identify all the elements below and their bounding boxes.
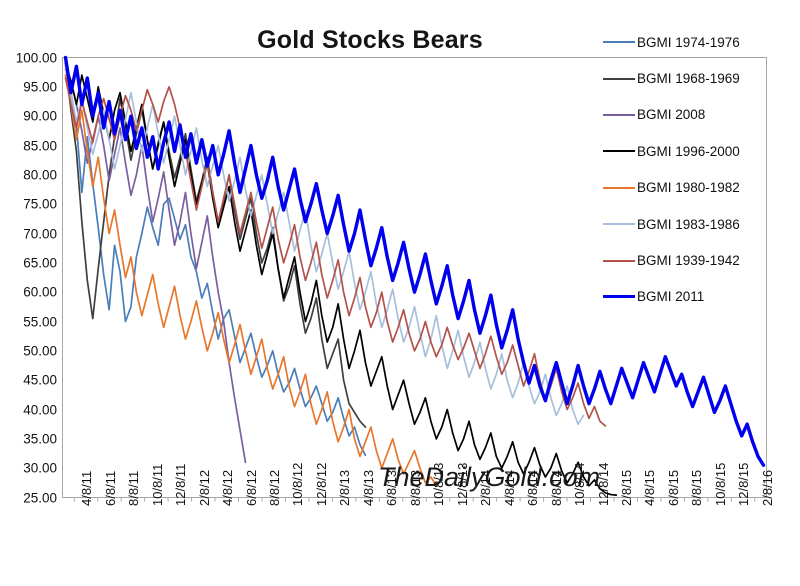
x-axis-tick-label: 10/8/15: [713, 462, 728, 505]
x-axis-tick-label: 2/8/13: [337, 469, 352, 505]
x-axis-tick-label: 8/8/12: [267, 469, 282, 505]
legend-label: BGMI 1980-1982: [637, 180, 740, 195]
legend-label: BGMI 1974-1976: [637, 35, 740, 50]
legend-label: BGMI 1983-1986: [637, 217, 740, 232]
x-axis-tick-label: 8/8/11: [126, 470, 141, 505]
x-axis-tick-label: 4/8/11: [79, 470, 94, 505]
legend-item[interactable]: BGMI 1968-1969: [603, 60, 800, 96]
legend-item[interactable]: BGMI 1996-2000: [603, 133, 800, 169]
legend-color-swatch: [603, 260, 635, 262]
x-axis-tick-label: 10/8/14: [572, 462, 587, 505]
legend-item[interactable]: BGMI 1980-1982: [603, 170, 800, 206]
x-axis-tick-label: 2/8/15: [619, 469, 634, 505]
x-axis-tick-label: 10/8/13: [431, 462, 446, 505]
legend-label: BGMI 2008: [637, 107, 705, 122]
x-axis-tick-label: 12/8/11: [173, 463, 188, 505]
legend-item[interactable]: BGMI 1939-1942: [603, 242, 800, 278]
legend-color-swatch: [603, 114, 635, 116]
legend-color-swatch: [603, 150, 635, 152]
x-axis-tick-label: 6/8/15: [666, 469, 681, 505]
x-axis-tick-label: 6/8/11: [103, 470, 118, 505]
x-axis-tick-label: 12/8/15: [736, 462, 751, 505]
x-axis-tick-label: 4/8/12: [220, 469, 235, 505]
legend-color-swatch: [603, 187, 635, 189]
legend-color-swatch: [603, 223, 635, 225]
x-axis-tick-label: 8/8/13: [408, 469, 423, 505]
x-axis-tick-label: 10/8/11: [150, 463, 165, 505]
x-axis-tick-label: 8/8/15: [689, 469, 704, 505]
legend-label: BGMI 1996-2000: [637, 144, 740, 159]
x-axis-tick-label: 12/8/12: [314, 462, 329, 505]
x-axis-tick-label: 2/8/14: [478, 469, 493, 505]
x-axis-tick-label: 2/8/16: [760, 469, 775, 505]
legend-label: BGMI 1939-1942: [637, 253, 740, 268]
x-axis-tick-label: 6/8/14: [525, 469, 540, 505]
chart-legend: BGMI 1974-1976BGMI 1968-1969BGMI 2008BGM…: [603, 24, 800, 315]
legend-label: BGMI 2011: [637, 289, 704, 304]
legend-item[interactable]: BGMI 2008: [603, 97, 800, 133]
x-axis-tick-label: 4/8/14: [502, 469, 517, 505]
x-axis-tick-label: 2/8/12: [197, 469, 212, 505]
legend-item[interactable]: BGMI 1983-1986: [603, 206, 800, 242]
legend-color-swatch: [603, 295, 635, 298]
x-axis-tick-label: 6/8/13: [384, 469, 399, 505]
legend-color-swatch: [603, 78, 635, 80]
x-axis-tick-label: 10/8/12: [290, 462, 305, 505]
x-axis-tick-label: 4/8/15: [642, 469, 657, 505]
legend-color-swatch: [603, 41, 635, 43]
x-axis-tick-label: 8/8/14: [549, 469, 564, 505]
legend-label: BGMI 1968-1969: [637, 71, 740, 86]
x-axis-tick-label: 4/8/13: [361, 469, 376, 505]
chart-container: Gold Stocks Bears 100.0095.0090.0085.008…: [0, 0, 800, 586]
x-axis-tick-label: 12/8/13: [455, 462, 470, 505]
x-axis-tick-label: 12/8/14: [596, 462, 611, 505]
legend-item[interactable]: BGMI 2011: [603, 279, 800, 315]
legend-item[interactable]: BGMI 1974-1976: [603, 24, 800, 60]
x-axis-tick-label: 6/8/12: [244, 469, 259, 505]
